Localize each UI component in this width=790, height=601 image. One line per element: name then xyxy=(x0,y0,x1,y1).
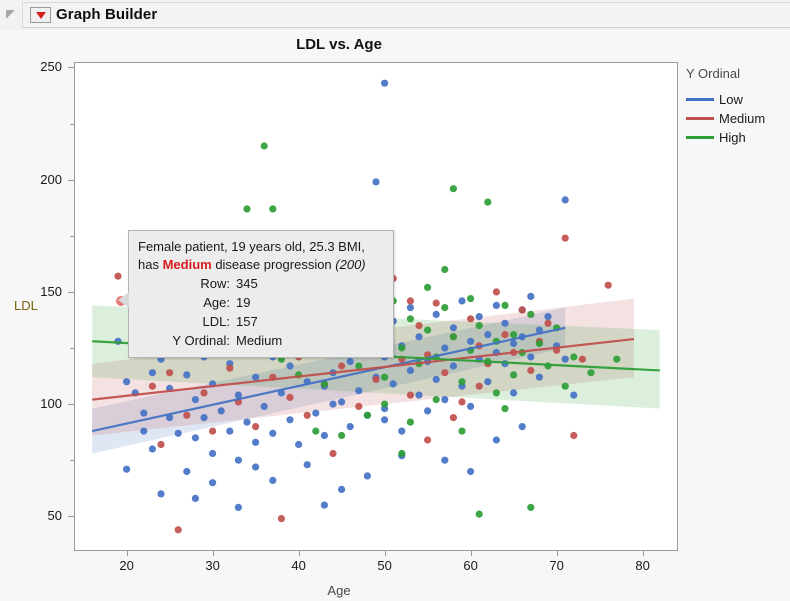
data-point xyxy=(613,356,620,363)
data-point xyxy=(218,407,225,414)
data-point xyxy=(527,353,534,360)
x-axis-tick-label: 30 xyxy=(193,558,233,573)
data-point xyxy=(407,304,414,311)
legend-color-swatch xyxy=(686,117,714,120)
data-point xyxy=(501,331,508,338)
data-point xyxy=(510,389,517,396)
legend-color-swatch xyxy=(686,98,714,101)
window-titlebar: Graph Builder xyxy=(0,0,790,31)
data-point xyxy=(493,302,500,309)
legend: Y Ordinal LowMediumHigh xyxy=(686,66,790,147)
data-point xyxy=(476,322,483,329)
data-point xyxy=(381,416,388,423)
x-axis-tick-label: 70 xyxy=(537,558,577,573)
tooltip-row: Row:345 xyxy=(138,274,384,293)
data-point xyxy=(398,344,405,351)
data-point xyxy=(261,142,268,149)
data-point xyxy=(536,374,543,381)
data-point xyxy=(304,412,311,419)
data-point xyxy=(510,371,517,378)
data-point xyxy=(140,428,147,435)
data-point xyxy=(175,430,182,437)
tooltip-row: LDL:157 xyxy=(138,312,384,331)
data-point xyxy=(527,293,534,300)
data-point xyxy=(364,472,371,479)
data-point xyxy=(562,383,569,390)
data-point xyxy=(476,511,483,518)
data-point xyxy=(192,396,199,403)
data-point xyxy=(441,396,448,403)
data-point xyxy=(407,367,414,374)
legend-item-low[interactable]: Low xyxy=(686,90,790,109)
data-point xyxy=(321,432,328,439)
data-point xyxy=(501,405,508,412)
data-point xyxy=(295,441,302,448)
data-point xyxy=(355,403,362,410)
data-point xyxy=(493,288,500,295)
legend-item-medium[interactable]: Medium xyxy=(686,109,790,128)
y-axis-tick-label: 50 xyxy=(18,508,62,523)
data-point xyxy=(570,392,577,399)
data-point xyxy=(570,432,577,439)
legend-items: LowMediumHigh xyxy=(686,90,790,147)
data-point xyxy=(450,362,457,369)
data-point xyxy=(467,338,474,345)
data-point xyxy=(329,401,336,408)
data-point xyxy=(407,392,414,399)
data-point xyxy=(407,297,414,304)
legend-item-label: Low xyxy=(719,92,743,107)
data-point xyxy=(424,407,431,414)
data-point xyxy=(372,178,379,185)
data-point xyxy=(209,479,216,486)
data-point xyxy=(476,383,483,390)
tooltip-line2-middle: disease progression xyxy=(212,257,336,272)
data-point xyxy=(123,378,130,385)
data-point xyxy=(415,392,422,399)
data-point xyxy=(493,436,500,443)
data-point xyxy=(441,344,448,351)
data-point xyxy=(484,331,491,338)
data-point-tooltip: Female patient, 19 years old, 25.3 BMI, … xyxy=(128,230,394,358)
data-point xyxy=(424,436,431,443)
data-point xyxy=(398,450,405,457)
data-point xyxy=(286,394,293,401)
data-point xyxy=(175,526,182,533)
data-point xyxy=(476,313,483,320)
tooltip-row-key: Y Ordinal: xyxy=(138,331,230,350)
data-point xyxy=(562,235,569,242)
legend-item-high[interactable]: High xyxy=(686,128,790,147)
y-axis-tick-label: 250 xyxy=(18,59,62,74)
data-point xyxy=(441,266,448,273)
data-point xyxy=(467,315,474,322)
data-point xyxy=(200,389,207,396)
page-title: Graph Builder xyxy=(56,6,157,23)
tooltip-row-key: Row: xyxy=(138,274,230,293)
data-point xyxy=(562,196,569,203)
data-point xyxy=(467,468,474,475)
data-point xyxy=(381,374,388,381)
data-point xyxy=(458,297,465,304)
data-point xyxy=(450,414,457,421)
data-point xyxy=(338,432,345,439)
legend-item-label: High xyxy=(719,130,746,145)
tooltip-row-value: 19 xyxy=(230,293,250,312)
data-point xyxy=(338,486,345,493)
data-point xyxy=(458,378,465,385)
data-point xyxy=(209,450,216,457)
y-axis-tick-label: 200 xyxy=(18,172,62,187)
data-point xyxy=(441,369,448,376)
data-point xyxy=(433,311,440,318)
x-axis-tick-label: 40 xyxy=(279,558,319,573)
data-point xyxy=(192,434,199,441)
data-point xyxy=(183,412,190,419)
data-point xyxy=(527,504,534,511)
data-point xyxy=(200,414,207,421)
tooltip-row-value: Medium xyxy=(230,331,282,350)
data-point xyxy=(493,389,500,396)
data-point xyxy=(235,457,242,464)
tooltip-pointer xyxy=(118,292,129,308)
data-point xyxy=(458,398,465,405)
data-point xyxy=(269,477,276,484)
data-point xyxy=(570,353,577,360)
tooltip-row: Age:19 xyxy=(138,293,384,312)
data-point xyxy=(407,419,414,426)
data-point xyxy=(407,315,414,322)
data-point xyxy=(544,320,551,327)
data-point xyxy=(433,376,440,383)
data-point xyxy=(157,441,164,448)
data-point xyxy=(183,371,190,378)
data-point xyxy=(166,369,173,376)
data-point xyxy=(450,185,457,192)
x-axis-tick-label: 60 xyxy=(451,558,491,573)
data-point xyxy=(252,374,259,381)
data-point xyxy=(372,376,379,383)
data-point xyxy=(450,333,457,340)
tooltip-description: Female patient, 19 years old, 25.3 BMI, … xyxy=(138,238,384,274)
y-axis-title: LDL xyxy=(14,298,38,313)
data-point xyxy=(424,327,431,334)
data-point xyxy=(587,369,594,376)
data-point xyxy=(510,331,517,338)
data-point xyxy=(579,356,586,363)
data-point xyxy=(192,495,199,502)
data-point xyxy=(252,463,259,470)
y-axis-tick-label: 100 xyxy=(18,396,62,411)
data-point xyxy=(261,403,268,410)
legend-title: Y Ordinal xyxy=(686,66,790,81)
data-point xyxy=(286,416,293,423)
data-point xyxy=(519,423,526,430)
tooltip-row-key: LDL: xyxy=(138,312,230,331)
data-point xyxy=(286,362,293,369)
data-point xyxy=(252,439,259,446)
chart-title: LDL vs. Age xyxy=(0,36,678,53)
tooltip-row: Y Ordinal:Medium xyxy=(138,331,384,350)
red-triangle-menu-icon[interactable] xyxy=(30,7,51,23)
data-point xyxy=(381,80,388,87)
tooltip-row-key: Age: xyxy=(138,293,230,312)
data-point xyxy=(338,362,345,369)
caret-down-icon xyxy=(36,12,46,19)
data-point xyxy=(398,428,405,435)
data-point xyxy=(450,324,457,331)
x-axis-tick-label: 80 xyxy=(623,558,663,573)
data-point xyxy=(467,295,474,302)
x-axis-tick-label: 20 xyxy=(107,558,147,573)
tooltip-line2-prefix: has xyxy=(138,257,163,272)
data-point xyxy=(226,428,233,435)
data-point xyxy=(157,490,164,497)
data-point xyxy=(347,358,354,365)
legend-color-swatch xyxy=(686,136,714,139)
data-point xyxy=(484,199,491,206)
data-point xyxy=(364,412,371,419)
data-point xyxy=(501,302,508,309)
data-point xyxy=(269,430,276,437)
data-point xyxy=(458,428,465,435)
data-point xyxy=(390,380,397,387)
data-point xyxy=(243,205,250,212)
data-point xyxy=(424,284,431,291)
tooltip-value-paren: (200) xyxy=(335,257,365,272)
data-point xyxy=(441,457,448,464)
data-point xyxy=(183,468,190,475)
y-axis-tick-label: 150 xyxy=(18,284,62,299)
data-point xyxy=(415,322,422,329)
data-point xyxy=(149,445,156,452)
data-point xyxy=(433,396,440,403)
data-point xyxy=(433,300,440,307)
tooltip-detail-rows: Row:345Age:19LDL:157Y Ordinal:Medium xyxy=(138,274,384,350)
data-point xyxy=(123,466,130,473)
data-point xyxy=(501,320,508,327)
data-point xyxy=(467,403,474,410)
triangle-collapse-icon[interactable] xyxy=(6,10,15,19)
data-point xyxy=(519,306,526,313)
data-point xyxy=(114,273,121,280)
data-point xyxy=(140,410,147,417)
data-point xyxy=(544,362,551,369)
tooltip-row-value: 345 xyxy=(230,274,258,293)
data-point xyxy=(243,419,250,426)
data-point xyxy=(304,461,311,468)
data-point xyxy=(235,504,242,511)
data-point xyxy=(527,311,534,318)
legend-item-label: Medium xyxy=(719,111,765,126)
data-point xyxy=(415,333,422,340)
data-point xyxy=(536,340,543,347)
data-point xyxy=(252,423,259,430)
data-point xyxy=(441,304,448,311)
data-point xyxy=(278,515,285,522)
data-point xyxy=(484,378,491,385)
graph-builder-window: Graph Builder LDL vs. Age LDL Age 203040… xyxy=(0,0,790,601)
data-point xyxy=(269,205,276,212)
data-point xyxy=(338,398,345,405)
data-point xyxy=(226,365,233,372)
data-point xyxy=(527,367,534,374)
data-point xyxy=(312,428,319,435)
data-point xyxy=(312,410,319,417)
tooltip-row-value: 157 xyxy=(230,312,258,331)
x-axis-title: Age xyxy=(0,583,678,598)
data-point xyxy=(329,450,336,457)
data-point xyxy=(544,313,551,320)
data-point xyxy=(321,502,328,509)
tooltip-line1-text: Female patient, 19 years old, 25.3 BMI, xyxy=(138,239,365,254)
data-point xyxy=(510,340,517,347)
graph-canvas: LDL vs. Age LDL Age 20304050607080501001… xyxy=(0,30,790,601)
data-point xyxy=(381,401,388,408)
data-point xyxy=(347,423,354,430)
data-point xyxy=(355,387,362,394)
data-point xyxy=(562,356,569,363)
data-point xyxy=(149,369,156,376)
data-point xyxy=(605,282,612,289)
data-point xyxy=(149,383,156,390)
x-axis-tick-label: 50 xyxy=(365,558,405,573)
data-point xyxy=(209,428,216,435)
tooltip-emphasis: Medium xyxy=(163,257,212,272)
